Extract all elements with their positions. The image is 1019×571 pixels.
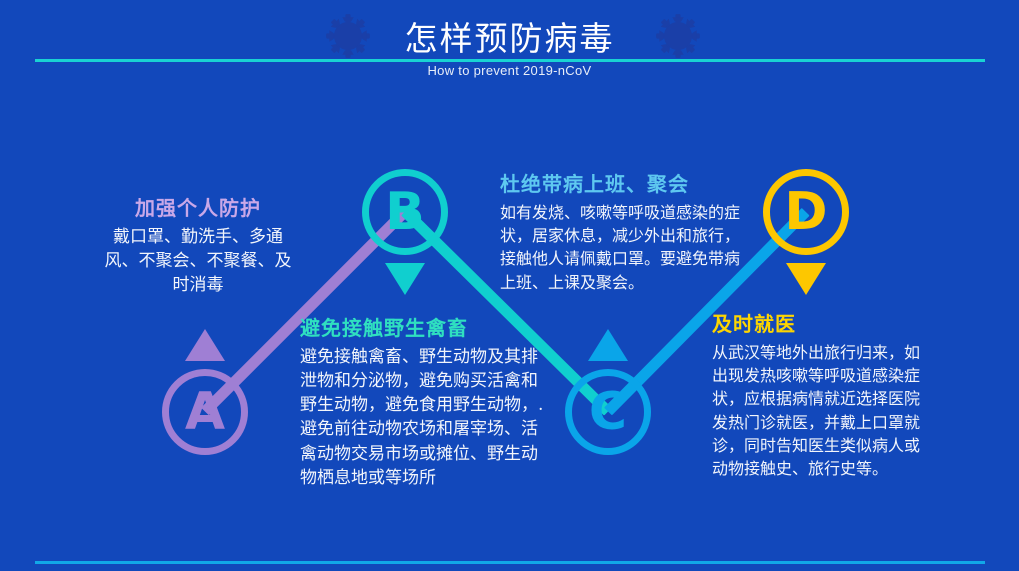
step-a-heading: 加强个人防护 (98, 192, 298, 221)
page-title: 怎样预防病毒 (0, 12, 1019, 60)
arrow-up-icon (588, 329, 628, 361)
step-marker-b[interactable]: B (362, 169, 448, 255)
arrow-down-icon (786, 263, 826, 295)
marker-letter: D (763, 169, 849, 255)
step-block-d: 及时就医 从武汉等地外出旅行归来，如出现发热咳嗽等呼吸道感染症状，应根据病情就近… (712, 308, 928, 480)
infographic-slide: 怎样预防病毒 How to prevent 2019-nCoV A B C D … (0, 0, 1019, 571)
step-b-heading: 避免接触野生禽畜 (300, 312, 548, 341)
header: 怎样预防病毒 How to prevent 2019-nCoV (0, 0, 1019, 92)
step-d-body: 从武汉等地外出旅行归来，如出现发热咳嗽等呼吸道感染症状，应根据病情就近选择医院发… (712, 341, 928, 480)
arrow-up-icon (185, 329, 225, 361)
step-c-body: 如有发烧、咳嗽等呼吸道感染的症状，居家休息，减少外出和旅行，接触他人请佩戴口罩。… (500, 201, 740, 294)
step-c-heading: 杜绝带病上班、聚会 (500, 168, 740, 197)
step-marker-a[interactable]: A (162, 369, 248, 455)
step-marker-d[interactable]: D (763, 169, 849, 255)
step-block-a: 加强个人防护 戴口罩、勤洗手、多通风、不聚会、不聚餐、及时消毒 (98, 192, 298, 297)
step-d-heading: 及时就医 (712, 308, 928, 337)
page-subtitle: How to prevent 2019-nCoV (0, 63, 1019, 78)
step-block-c: 杜绝带病上班、聚会 如有发烧、咳嗽等呼吸道感染的症状，居家休息，减少外出和旅行，… (500, 168, 740, 294)
header-divider (35, 59, 985, 62)
step-block-b: 避免接触野生禽畜 避免接触禽畜、野生动物及其排泄物和分泌物，避免购买活禽和野生动… (300, 312, 548, 490)
marker-letter: B (362, 169, 448, 255)
footer-divider (35, 561, 985, 564)
marker-letter: A (162, 369, 248, 455)
step-b-body: 避免接触禽畜、野生动物及其排泄物和分泌物，避免购买活禽和野生动物，避免食用野生动… (300, 345, 548, 490)
step-marker-c[interactable]: C (565, 369, 651, 455)
step-a-body: 戴口罩、勤洗手、多通风、不聚会、不聚餐、及时消毒 (98, 225, 298, 297)
marker-letter: C (565, 369, 651, 455)
arrow-down-icon (385, 263, 425, 295)
